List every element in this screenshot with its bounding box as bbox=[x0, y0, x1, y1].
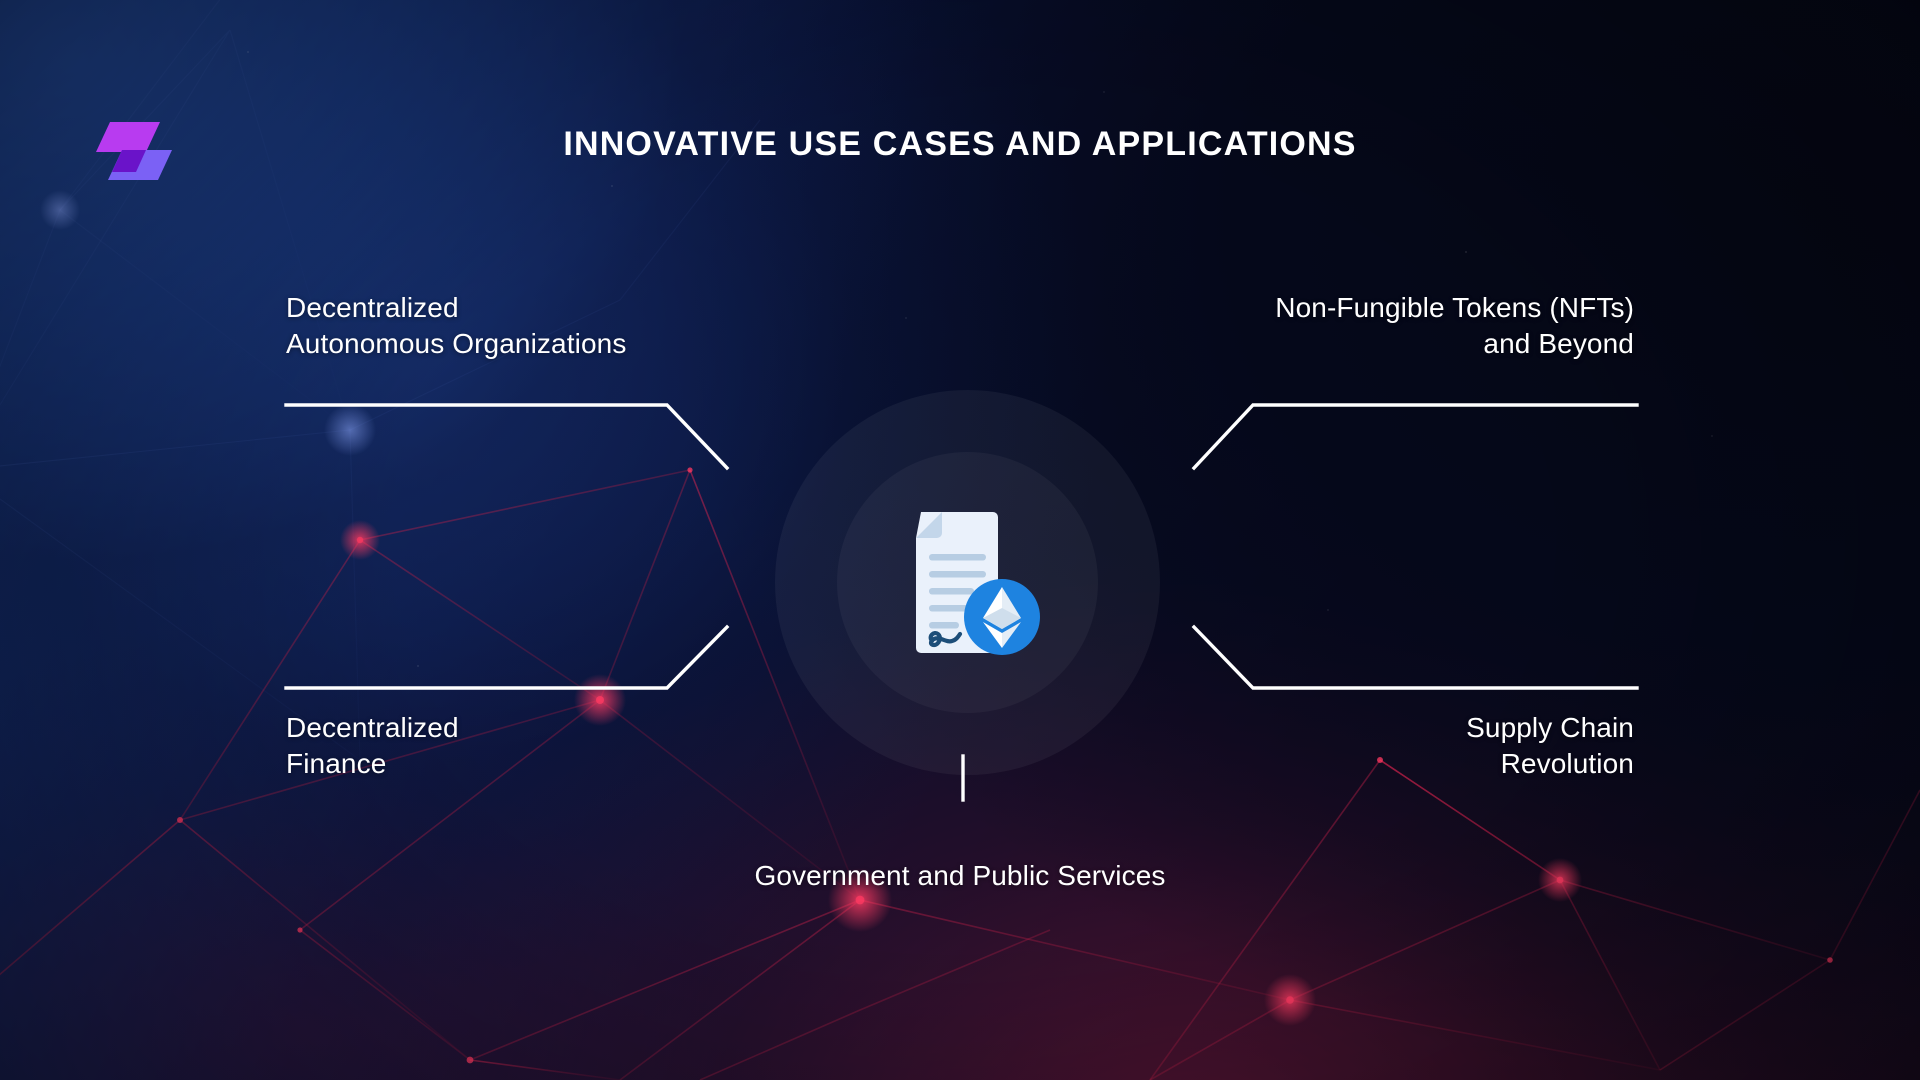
slide-canvas: INNOVATIVE USE CASES AND APPLICATIONS bbox=[0, 0, 1920, 1080]
node-label-government: Government and Public Services bbox=[0, 858, 1920, 894]
node-label-defi: Decentralized Finance bbox=[286, 710, 846, 782]
connector-nft bbox=[1194, 405, 1637, 468]
page-title: INNOVATIVE USE CASES AND APPLICATIONS bbox=[0, 125, 1920, 164]
connector-defi bbox=[286, 627, 727, 688]
connector-dao bbox=[286, 405, 727, 468]
node-label-nft: Non-Fungible Tokens (NFTs) and Beyond bbox=[1014, 290, 1634, 362]
connector-supply bbox=[1194, 627, 1637, 688]
node-label-supply: Supply Chain Revolution bbox=[1074, 710, 1634, 782]
node-label-dao: Decentralized Autonomous Organizations bbox=[286, 290, 846, 362]
smart-contract-document-ethereum-icon bbox=[885, 498, 1055, 668]
